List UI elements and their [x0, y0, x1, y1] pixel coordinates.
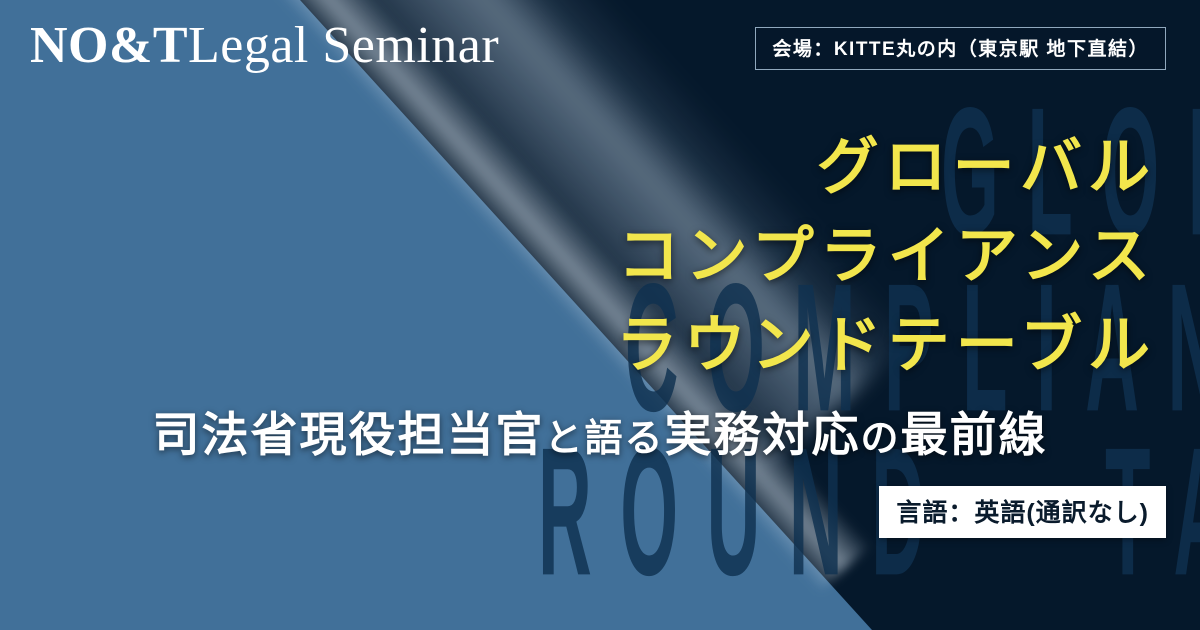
headline-line-3: ラウンドテーブル	[616, 294, 1156, 384]
brand-logo: NO&TLegal Seminar	[30, 16, 499, 75]
brand-logo-secondary: Legal Seminar	[188, 17, 499, 74]
venue-badge: 会場：KITTE丸の内（東京駅 地下直結）	[755, 27, 1166, 70]
headline-line-2: コンプライアンス	[618, 205, 1156, 295]
subtitle-part-2: と語る	[544, 416, 664, 460]
subtitle-part-1: 司法省現役担当官	[152, 408, 544, 463]
language-badge: 言語：英語(通訳なし)	[879, 486, 1166, 538]
subtitle-part-3: 実務対応	[665, 408, 861, 463]
brand-logo-primary: NO&T	[30, 17, 188, 74]
subtitle-part-4: の	[861, 416, 901, 460]
subtitle: 司法省現役担当官と語る実務対応の最前線	[0, 396, 1200, 465]
subtitle-part-5: 最前線	[901, 408, 1048, 463]
seminar-banner: GLOBAL COMPLIANCE ROUND - TABLE NO&TLega…	[0, 0, 1200, 630]
headline-line-1: グローバル	[817, 116, 1156, 206]
